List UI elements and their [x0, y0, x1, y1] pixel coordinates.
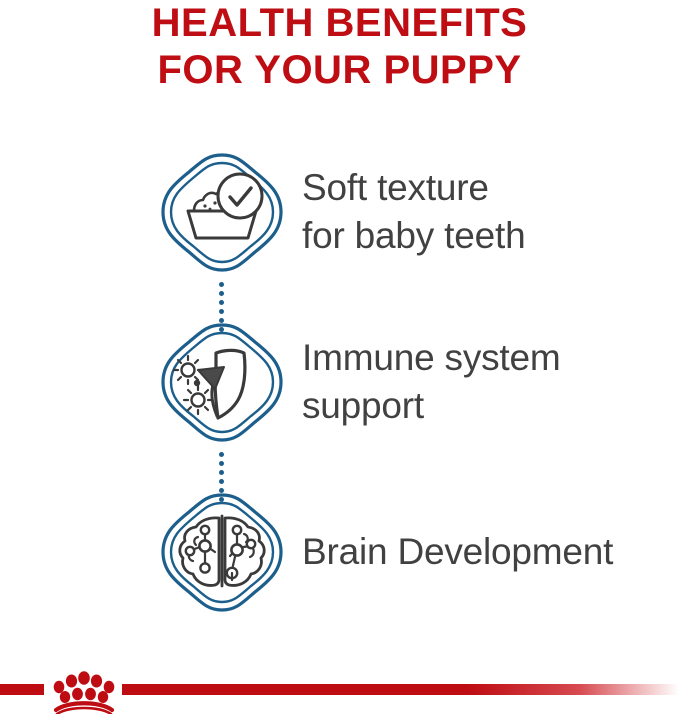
- connector-dot: [219, 327, 224, 332]
- footer-bar-left: [0, 684, 44, 695]
- connector-dot: [219, 300, 224, 305]
- benefit-label-immune-support: Immune system support: [302, 334, 679, 430]
- benefit-label-brain-development: Brain Development: [302, 528, 679, 576]
- connector-dot: [219, 470, 224, 475]
- connector-dot: [219, 282, 224, 287]
- benefits-list: Soft texture for baby teeth: [0, 150, 679, 615]
- page-title-line-2: FOR YOUR PUPPY: [0, 47, 679, 94]
- connector-dot: [219, 488, 224, 493]
- benefit-label-line-1: Immune system: [302, 334, 679, 382]
- food-bowl-check-icon: [158, 150, 286, 275]
- connector-dot: [219, 309, 224, 314]
- connector-dot: [219, 461, 224, 466]
- footer-bar-right: [122, 684, 679, 695]
- benefit-item-immune-support: Immune system support: [0, 320, 679, 445]
- page-title: HEALTH BENEFITS FOR YOUR PUPPY: [0, 0, 679, 94]
- benefit-item-soft-texture: Soft texture for baby teeth: [0, 150, 679, 275]
- brain-network-icon: [158, 490, 286, 615]
- connector-dots-1: [219, 282, 225, 328]
- benefit-item-brain-development: Brain Development: [0, 490, 679, 615]
- shield-germ-icon: [158, 320, 286, 445]
- benefit-label-soft-texture: Soft texture for baby teeth: [302, 164, 679, 260]
- page-title-line-1: HEALTH BENEFITS: [0, 0, 679, 47]
- brand-footer: [0, 656, 679, 714]
- benefit-label-line-2: for baby teeth: [302, 212, 679, 260]
- connector-dot: [219, 452, 224, 457]
- connector-dot: [219, 479, 224, 484]
- benefit-label-line-2: support: [302, 382, 679, 430]
- benefit-label-line-1: Brain Development: [302, 528, 679, 576]
- crown-icon: [44, 668, 124, 714]
- benefit-label-line-1: Soft texture: [302, 164, 679, 212]
- connector-dot: [219, 291, 224, 296]
- connector-dot: [219, 318, 224, 323]
- connector-dots-2: [219, 452, 225, 498]
- connector-dot: [219, 497, 224, 502]
